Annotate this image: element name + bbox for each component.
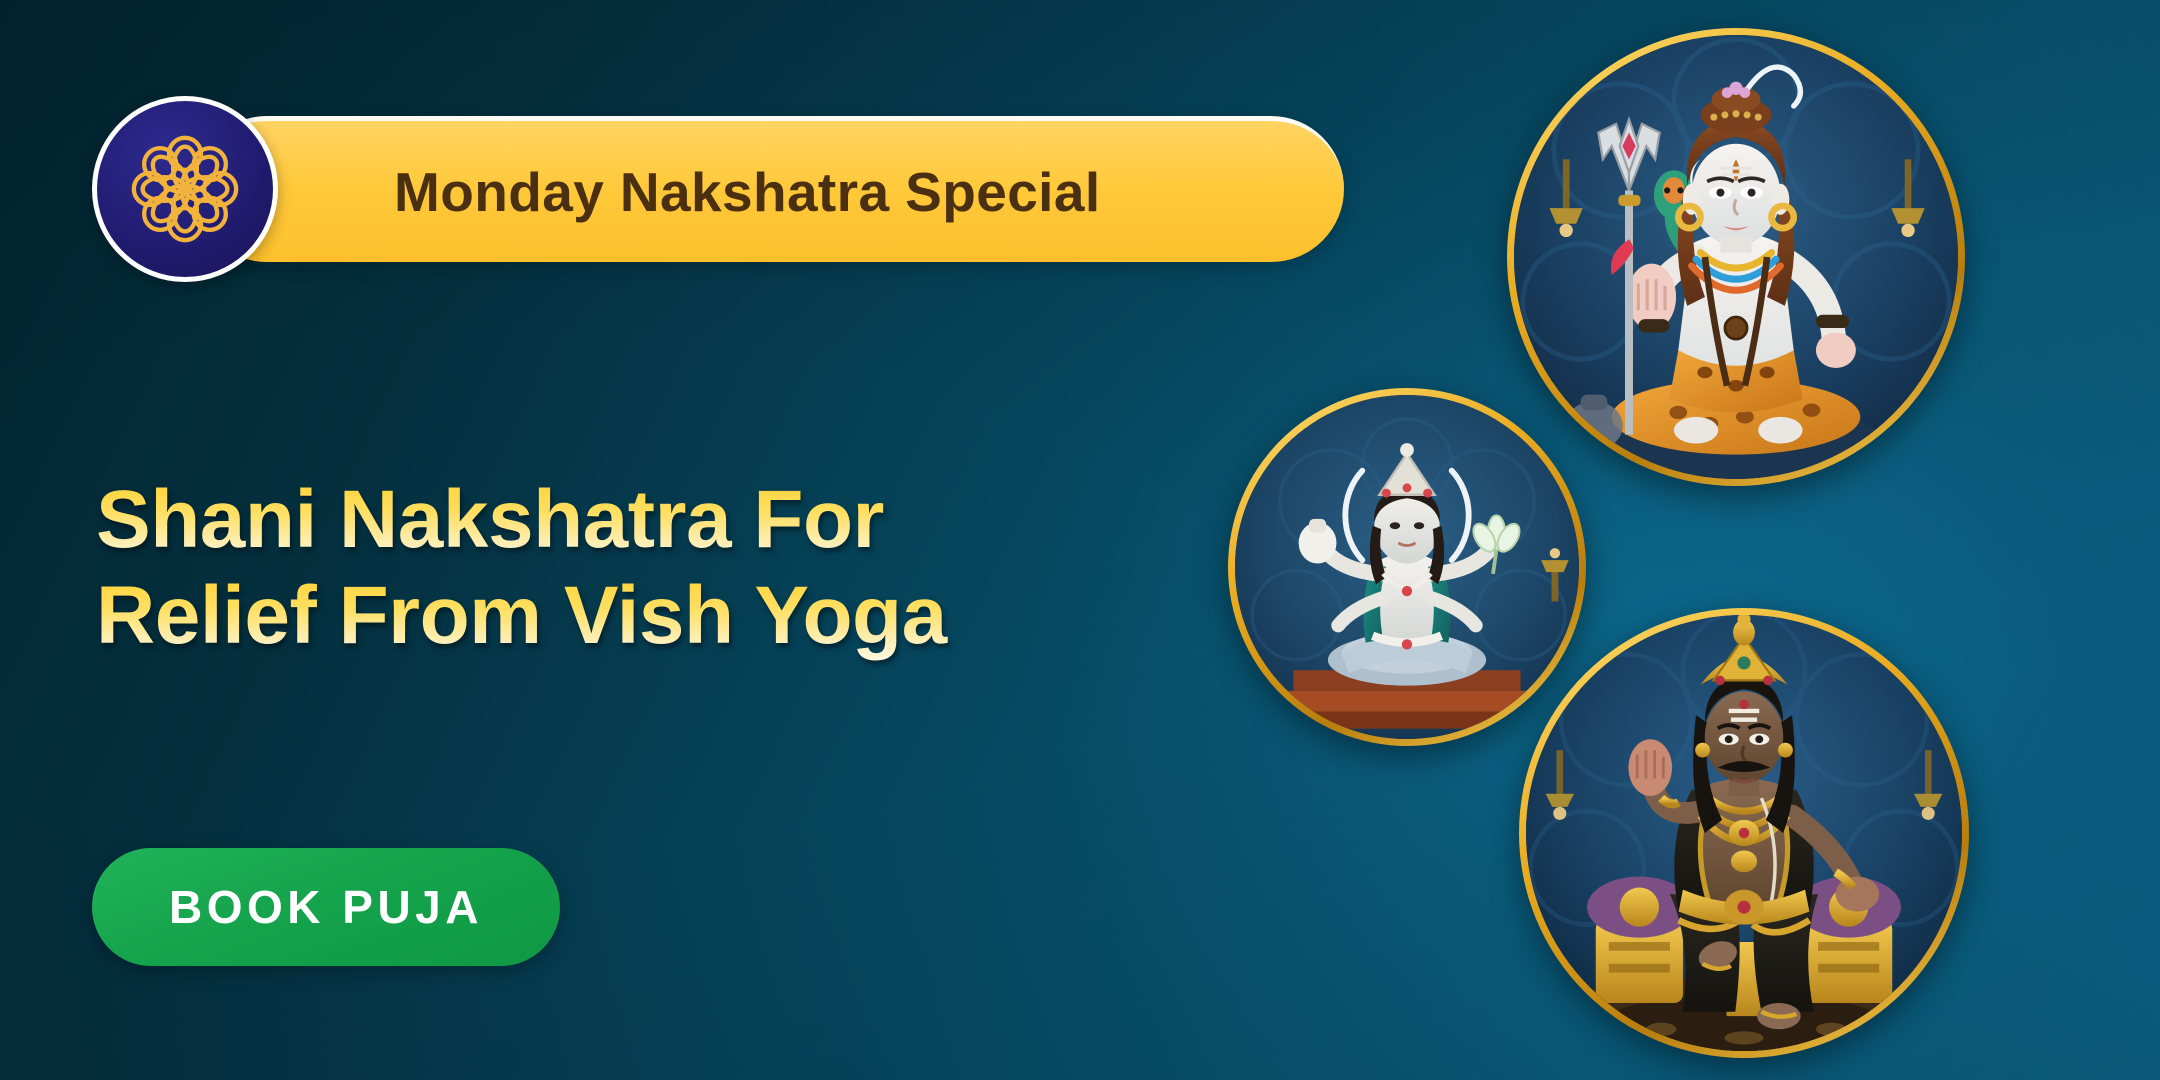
brand-logo — [92, 96, 278, 282]
shiva-portrait — [1514, 35, 1958, 479]
deity-circle-shani — [1519, 608, 1969, 1058]
promotional-banner: Monday Nakshatra Special — [0, 0, 2160, 1080]
shani-portrait — [1526, 615, 1962, 1051]
lotus-rosette-icon — [123, 127, 247, 251]
deity-circle-shiva — [1507, 28, 1965, 486]
badge-pill: Monday Nakshatra Special — [194, 116, 1344, 262]
headline-line-1: Shani Nakshatra For — [96, 472, 1156, 568]
headline: Shani Nakshatra For Relief From Vish Yog… — [96, 472, 1156, 664]
chandra-portrait — [1235, 395, 1579, 739]
badge-label: Monday Nakshatra Special — [394, 160, 1101, 224]
book-puja-button[interactable]: BOOK PUJA — [92, 848, 560, 966]
deity-circle-chandra — [1228, 388, 1586, 746]
headline-line-2: Relief From Vish Yoga — [96, 568, 1156, 664]
